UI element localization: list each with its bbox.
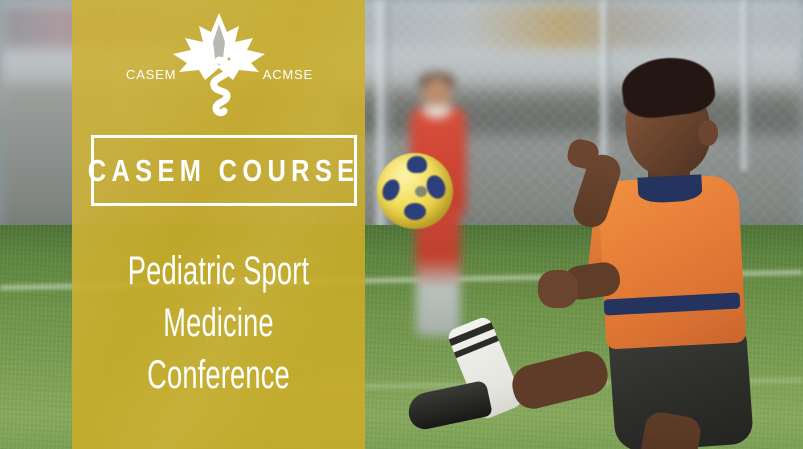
conference-title-line: Pediatric Sport (119, 245, 318, 297)
conference-title-line: Medicine (119, 297, 318, 349)
banner-image: CASEM ACMSE CASEM COURSE Pediatric Sport… (0, 0, 803, 449)
conference-title: Pediatric Sport Medicine Conference (72, 245, 365, 401)
player-ear (698, 120, 718, 146)
ball-patch (380, 176, 404, 203)
player-head (422, 76, 452, 110)
soccer-ball (377, 153, 453, 229)
ball-patch (404, 203, 426, 220)
course-title-label: CASEM COURSE (88, 153, 360, 189)
ball-patch (415, 186, 427, 197)
gold-overlay-panel: CASEM ACMSE CASEM COURSE Pediatric Sport… (72, 0, 365, 449)
player-fist (538, 270, 578, 308)
ball-patch (424, 172, 449, 201)
maple-leaf-caduceus-icon (167, 10, 271, 123)
course-title-box: CASEM COURSE (91, 135, 357, 206)
logo-acronym-fr: ACMSE (263, 67, 313, 82)
ball-patch (407, 156, 427, 173)
casem-logo: CASEM ACMSE (72, 10, 365, 120)
conference-title-line: Conference (119, 349, 318, 401)
logo-acronym-en: CASEM (126, 67, 176, 82)
foreground-player-orange (586, 58, 803, 449)
